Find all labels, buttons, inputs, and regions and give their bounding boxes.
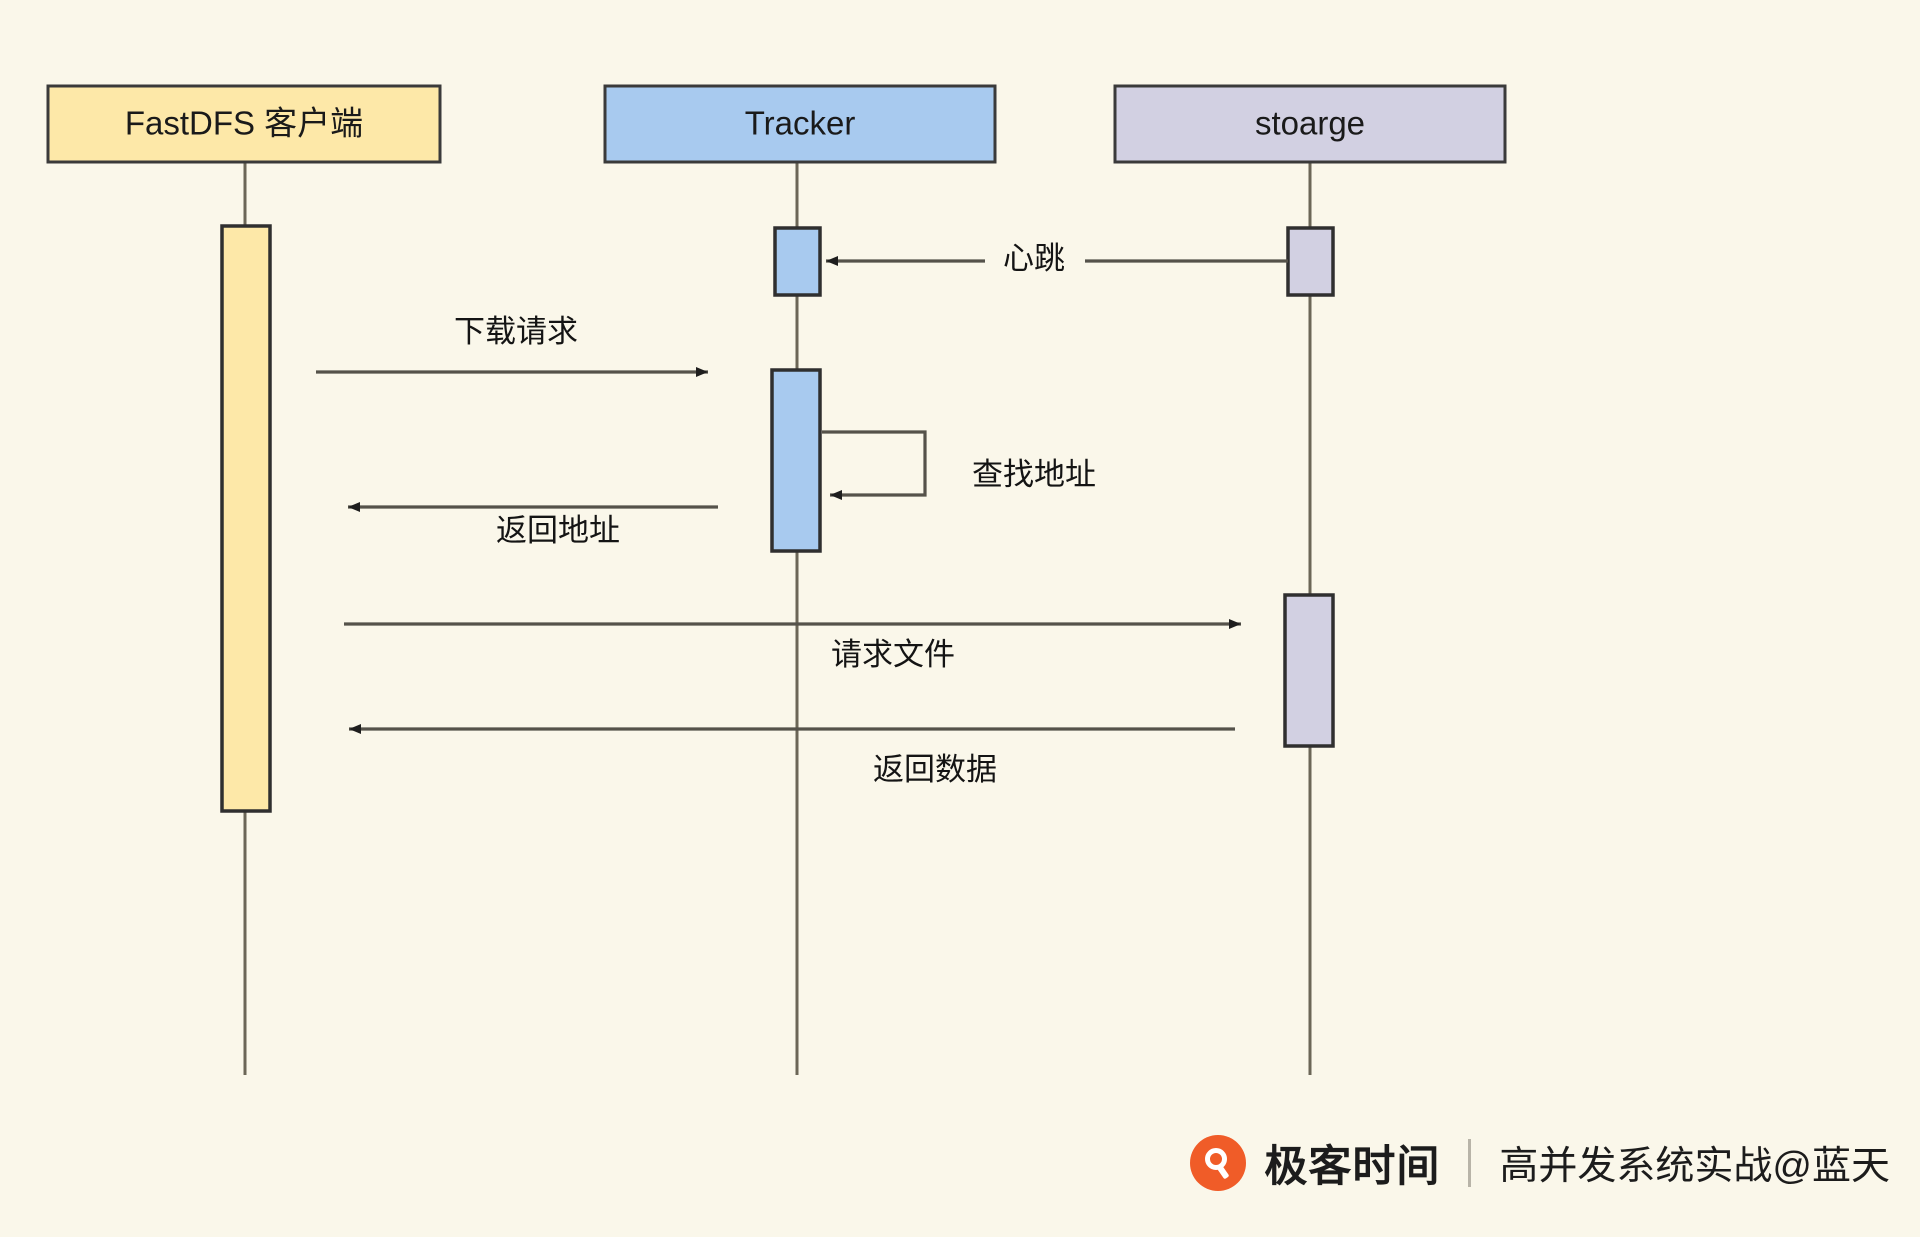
participant-client[interactable]: FastDFS 客户端 [48,86,440,162]
message-lookup-address[interactable]: 查找地址 [822,432,1096,495]
message-label-return-address: 返回地址 [496,513,620,548]
message-return-data[interactable]: 返回数据 [349,729,1235,787]
message-download-request[interactable]: 下载请求 [316,314,708,372]
participant-tracker[interactable]: Tracker [605,86,995,162]
message-heartbeat[interactable]: 心跳 [826,241,1288,276]
footer-branding: 极客时间 高并发系统实战@蓝天 [1100,1120,1890,1206]
sequence-diagram: FastDFS 客户端 Tracker stoarge 心跳 [0,0,1920,1237]
participant-label-client: FastDFS 客户端 [125,105,363,142]
brand-tagline: 高并发系统实战@蓝天 [1499,1135,1890,1191]
message-request-file[interactable]: 请求文件 [344,624,1241,672]
activation-tracker-lookup [772,370,820,551]
participant-label-tracker: Tracker [745,105,856,142]
message-label-download-request: 下载请求 [454,314,578,349]
geek-time-logo-icon [1190,1135,1246,1191]
message-label-heartbeat: 心跳 [1003,241,1065,276]
message-label-return-data: 返回数据 [873,752,997,787]
activation-bars [222,226,1333,811]
participant-storage[interactable]: stoarge [1115,86,1505,162]
activation-storage-transfer [1285,595,1333,746]
activation-client [222,226,270,811]
participant-label-storage: stoarge [1255,105,1365,142]
activation-storage-heartbeat [1288,228,1333,295]
message-label-lookup-address: 查找地址 [972,457,1096,492]
brand-divider [1468,1139,1471,1187]
activation-tracker-heartbeat [775,228,820,295]
message-lookup-address-loop [822,432,925,495]
diagram-canvas: FastDFS 客户端 Tracker stoarge 心跳 [0,0,1920,1237]
message-label-request-file: 请求文件 [831,637,955,672]
lifelines [245,162,1310,1075]
brand-name: 极客时间 [1264,1132,1440,1194]
message-return-address[interactable]: 返回地址 [348,507,718,548]
